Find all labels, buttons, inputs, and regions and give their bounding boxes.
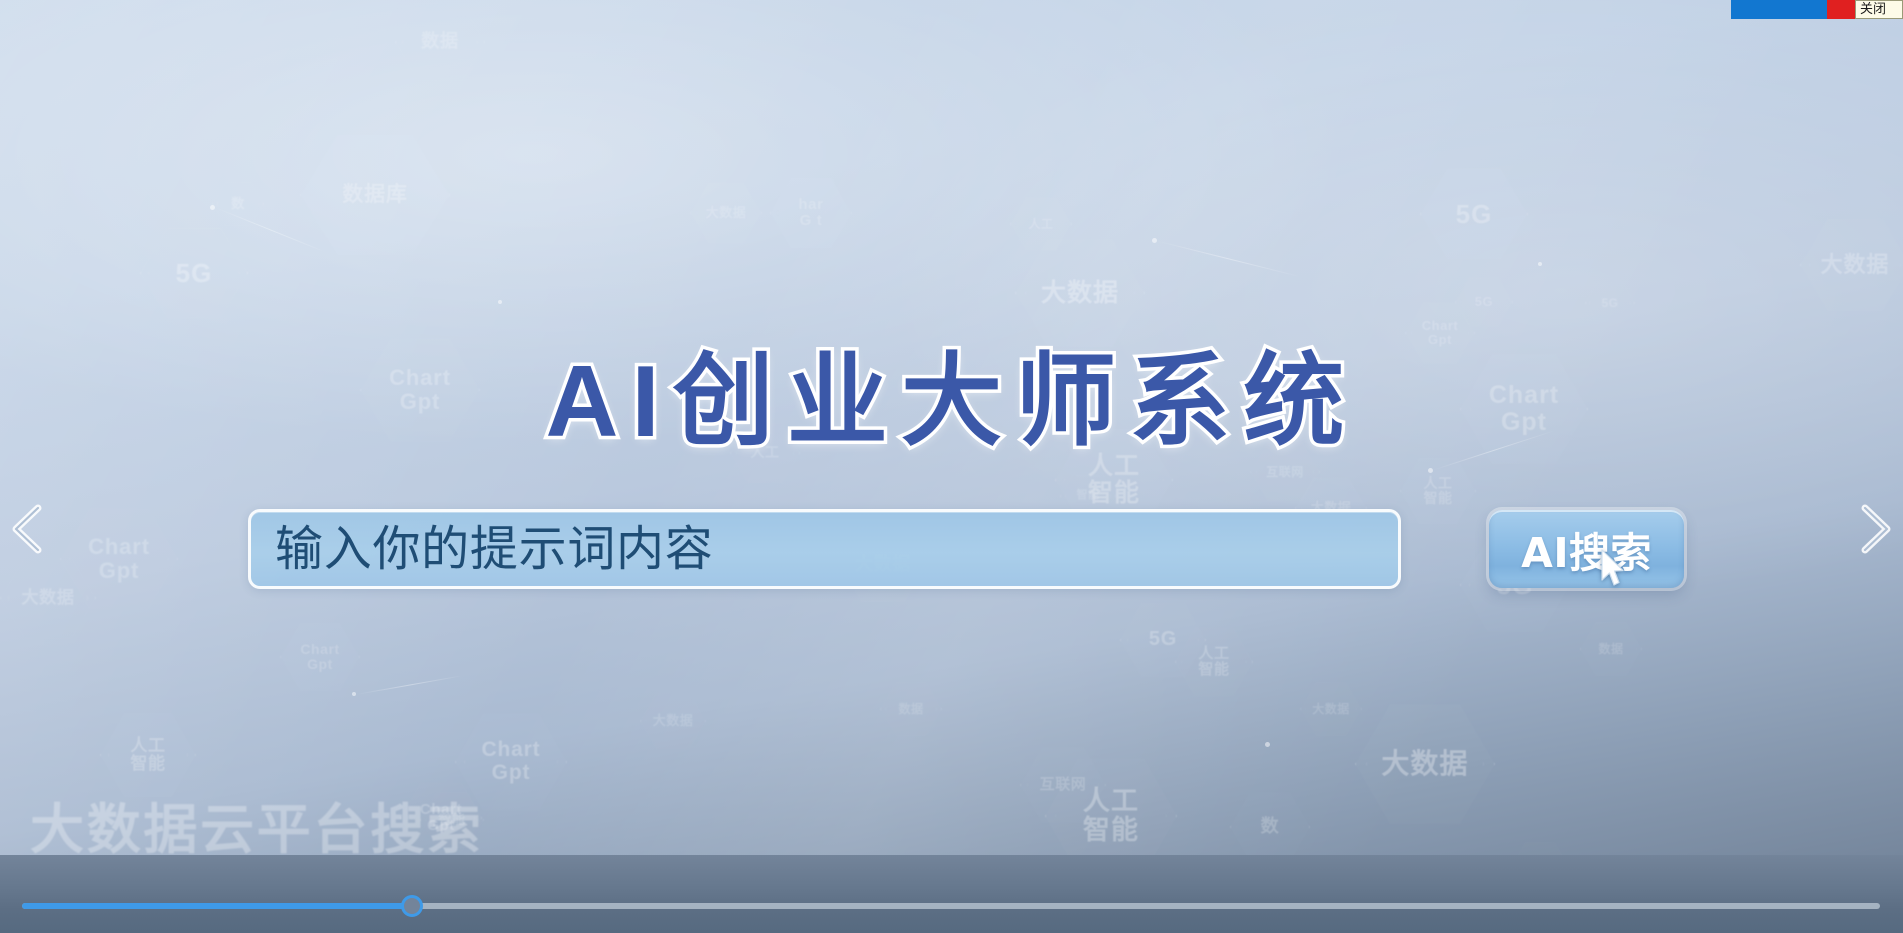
bottom-player-bar [0,855,1903,933]
background-hex-label: 5G [170,259,219,287]
background-hex-tag: 互联网 [1020,745,1106,825]
background-hex-tag: 大数据 [1800,215,1903,315]
network-node [498,300,502,304]
hexagon-icon [1800,215,1903,315]
background-hex-label: 数据 [415,32,464,51]
hexagon-icon [395,0,485,84]
app-window: 数据库5G数ChartGptChartGpt大数据ChartGpt人工智能Cha… [0,0,1903,933]
top-right-overlay-chrome: 关闭 [1731,0,1903,19]
chevron-right-icon [1851,500,1897,558]
network-node [1428,468,1433,473]
background-hex-tag: 大数据 [0,555,96,641]
background-hex-label: ChartGpt [82,535,156,583]
ai-search-button[interactable]: AI搜索 [1489,510,1684,588]
background-hex-tag: 大数据 [1300,680,1362,738]
background-hex-label: 5G [1143,629,1183,651]
chevron-left-icon [6,500,52,558]
background-hex-label: 数据库 [336,184,414,207]
background-hex-label: 大数据 [1815,253,1896,277]
progress-slider[interactable] [22,901,1880,911]
background-hex-tag: 数 [1230,790,1310,855]
background-hex-tag: 智能 [1510,840,1570,855]
background-hex-label: 人工智能 [124,737,171,774]
background-hex-label: ChartGpt [475,739,546,784]
hexagon-icon [880,680,942,738]
background-hex-tag: 5G [1120,600,1206,680]
background-hex-tag: 数据 [395,0,485,84]
hexagon-icon [1420,165,1528,263]
network-wire [1155,240,1301,277]
background-hex-label: harG t [792,197,829,229]
hexagon-icon [1175,625,1253,699]
progress-slider-fill [22,903,412,909]
background-hex-label: 数 [1255,817,1286,836]
network-node [210,205,215,210]
background-hex-label: 数 [225,197,251,211]
network-node [352,692,356,696]
background-hex-label: 大数据 [1035,280,1125,307]
hexagon-icon [212,180,264,228]
hexagon-icon [300,130,450,260]
background-hex-label: 5G [1469,295,1499,309]
blue-status-strip [1731,0,1827,19]
background-hex-label: 大数据 [647,714,700,728]
hexagon-icon [1510,840,1570,855]
hexagon-icon [1120,600,1206,680]
background-hex-label: 互联网 [1034,777,1093,793]
background-hex-tag: 人工智能 [1045,755,1177,855]
background-hex-label: 人工智能 [1192,646,1235,678]
background-hex-label: 5G [1450,200,1499,228]
red-status-strip [1827,0,1855,19]
background-hex-tag: 人工 [1010,195,1072,253]
prev-slide-arrow[interactable] [6,500,52,558]
network-node [1152,238,1157,243]
background-hex-label: 数据 [1593,643,1630,656]
background-hex-tag: 数据 [880,680,942,738]
hexagon-icon [60,505,178,613]
hexagon-icon [1020,745,1106,825]
next-slide-arrow[interactable] [1851,500,1897,558]
background-hex-tag: ChartGpt [60,505,178,613]
close-button[interactable]: 关闭 [1855,0,1903,19]
background-hex-tag: ChartGpt [280,620,360,694]
background-hex-label: ChartGpt [294,642,345,672]
background-hex-label: 大数据 [700,206,753,220]
background-hex-label: 人工智能 [1077,787,1145,845]
hexagon-icon [690,180,762,246]
hexagon-icon [1230,790,1310,855]
hexagon-icon [140,225,248,321]
hexagon-icon [1580,620,1642,678]
background-hex-label: 智能 [1071,490,1106,502]
search-row: 输入你的提示词内容 AI搜索 [248,508,1718,590]
background-hex-tag: 大数据 [1355,700,1495,828]
prompt-input-placeholder: 输入你的提示词内容 [275,525,713,573]
background-hex-label: 人工 [1023,218,1060,231]
background-hex-label: 大数据 [1306,703,1355,716]
background-watermark-text: 大数据云平台搜索 [30,785,484,855]
background-hex-tag: harG t [770,175,852,251]
background-hex-tag: 5G [1420,165,1528,263]
hexagon-icon [1010,195,1072,253]
background-hex-label: 互联网 [1260,466,1309,479]
background-hex-label: 人工智能 [1417,476,1458,506]
background-hex-tag: 数据库 [300,130,450,260]
hexagon-icon [0,555,96,641]
prompt-input[interactable]: 输入你的提示词内容 [248,509,1401,589]
hexagon-icon [640,690,706,752]
background-hex-tag: 数 [212,180,264,228]
background-hex-tag: 人工智能 [1175,625,1253,699]
background-hex-label: 5G [1596,297,1625,310]
background-hex-tag: 大数据 [690,180,762,246]
progress-slider-knob[interactable] [401,895,423,917]
network-wire [215,207,327,253]
hexagon-icon [770,175,852,251]
hexagon-icon [1045,755,1177,855]
network-node [1265,742,1270,747]
background-hex-tag: 5G [140,225,248,321]
background-hex-label: 数据 [893,703,930,716]
background-hex-label: 大数据 [15,589,80,607]
hero-slide: 数据库5G数ChartGptChartGpt大数据ChartGpt人工智能Cha… [0,0,1903,855]
hexagon-icon [1300,680,1362,738]
hexagon-icon [280,620,360,694]
network-wire [356,675,465,695]
background-hex-label: 大数据 [1375,749,1474,779]
hexagon-icon [1355,700,1495,828]
background-hex-tag: 数据 [1580,620,1642,678]
background-hex-tag: 大数据 [640,690,706,752]
network-node [1538,262,1542,266]
page-title: AI创业大师系统 [0,320,1903,466]
